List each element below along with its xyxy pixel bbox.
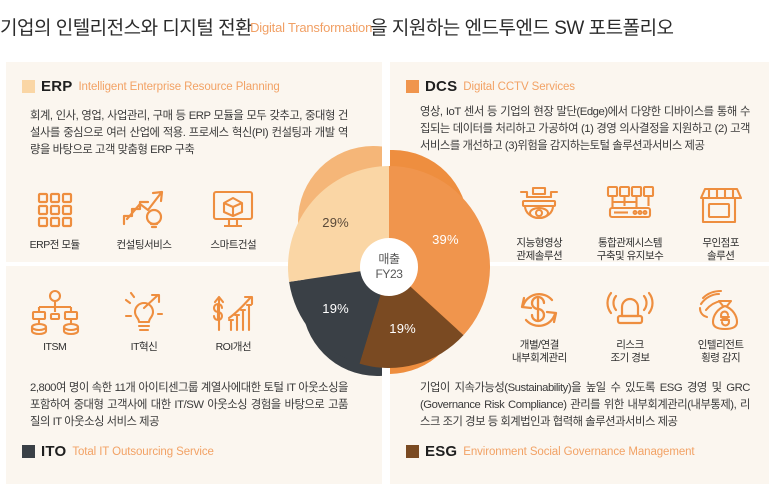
grid-modules-icon bbox=[29, 186, 81, 234]
ito-icon-cell-3[interactable]: ROI개선 bbox=[189, 288, 278, 354]
erp-icon-row: ERP전 모듈 컨설팅서비스 bbox=[10, 186, 278, 252]
ito-icon-cell-1[interactable]: ITSM bbox=[10, 288, 99, 354]
pie-label-esg: 19% bbox=[389, 321, 416, 336]
ito-code: ITO bbox=[41, 443, 66, 460]
erp-description: 회계, 인사, 영업, 사업관리, 구매 등 ERP 모듈을 모두 갖추고, 중… bbox=[30, 108, 348, 159]
network-servers-icon bbox=[29, 288, 81, 336]
title-trail: 을 지원하는 엔드투엔드 SW 포트폴리오 bbox=[370, 13, 673, 40]
dcs-icon-cell-1[interactable]: 지능형영상 관제솔루션 bbox=[494, 184, 585, 263]
monitor-building-icon bbox=[207, 186, 259, 234]
esg-icon-row: 개별/연결 내부회계관리 리스크 조기 경보 bbox=[494, 286, 766, 365]
slide-canvas: 기업의 인텔리전스와 디지털 전환 Digital Transformation… bbox=[0, 0, 775, 490]
esg-name: Environment Social Governance Management bbox=[463, 446, 694, 458]
dcs-code: DCS bbox=[425, 78, 457, 95]
title-lead: 기업의 인텔리전스와 디지털 전환 bbox=[0, 13, 252, 40]
esg-marker-square bbox=[406, 445, 419, 458]
roi-dollar-growth-icon bbox=[207, 288, 259, 336]
control-system-rack-icon bbox=[604, 184, 656, 232]
cctv-camera-icon bbox=[513, 184, 565, 232]
esg-icon-cell-2[interactable]: 리스크 조기 경보 bbox=[585, 286, 676, 365]
erp-name: Intelligent Enterprise Resource Planning bbox=[78, 81, 279, 93]
money-bag-grab-icon bbox=[695, 286, 747, 334]
dcs-icon-label-2: 통합관제시스템 구축및 유지보수 bbox=[597, 237, 664, 263]
dollar-cycle-icon bbox=[513, 286, 565, 334]
ito-icon-label-1: ITSM bbox=[43, 341, 66, 354]
pie-label-dcs: 39% bbox=[432, 232, 459, 247]
dcs-icon-cell-2[interactable]: 통합관제시스템 구축및 유지보수 bbox=[585, 184, 676, 263]
title-english: Digital Transformation bbox=[250, 20, 372, 35]
ito-icon-row: ITSM IT혁신 bbox=[10, 288, 278, 354]
esg-icon-label-3: 인텔리전트 횡령 감지 bbox=[698, 339, 744, 365]
dcs-icon-cell-3[interactable]: 무인점포 솔루션 bbox=[675, 184, 766, 263]
pie-label-erp: 29% bbox=[322, 215, 349, 230]
ito-icon-cell-2[interactable]: IT혁신 bbox=[99, 288, 188, 354]
lightbulb-arrow-icon bbox=[118, 288, 170, 336]
pie-center-hub: 매출 FY23 bbox=[360, 238, 418, 296]
erp-icon-cell-2[interactable]: 컨설팅서비스 bbox=[99, 186, 188, 252]
pie-label-ito: 19% bbox=[322, 301, 349, 316]
esg-icon-cell-1[interactable]: 개별/연결 내부회계관리 bbox=[494, 286, 585, 365]
pie-center-line1: 매출 bbox=[378, 252, 399, 267]
erp-marker-square bbox=[22, 80, 35, 93]
section-header-erp: ERP Intelligent Enterprise Resource Plan… bbox=[22, 78, 280, 95]
esg-code: ESG bbox=[425, 443, 457, 460]
esg-icon-cell-3[interactable]: 인텔리전트 횡령 감지 bbox=[675, 286, 766, 365]
erp-icon-label-2: 컨설팅서비스 bbox=[117, 239, 172, 252]
dcs-marker-square bbox=[406, 80, 419, 93]
dcs-icon-label-1: 지능형영상 관제솔루션 bbox=[516, 237, 562, 263]
erp-icon-label-1: ERP전 모듈 bbox=[30, 239, 80, 252]
erp-icon-cell-3[interactable]: 스마트건설 bbox=[189, 186, 278, 252]
pie-center-line2: FY23 bbox=[375, 267, 402, 282]
unmanned-store-icon bbox=[695, 184, 747, 232]
growth-chart-lightbulb-icon bbox=[118, 186, 170, 234]
dcs-name: Digital CCTV Services bbox=[463, 81, 575, 93]
section-header-ito: ITO Total IT Outsourcing Service bbox=[22, 443, 214, 460]
esg-icon-label-1: 개별/연결 내부회계관리 bbox=[512, 339, 567, 365]
ito-marker-square bbox=[22, 445, 35, 458]
erp-icon-cell-1[interactable]: ERP전 모듈 bbox=[10, 186, 99, 252]
alarm-siren-icon bbox=[604, 286, 656, 334]
dcs-icon-label-3: 무인점포 솔루션 bbox=[702, 237, 739, 263]
section-header-esg: ESG Environment Social Governance Manage… bbox=[406, 443, 695, 460]
ito-icon-label-3: ROI개선 bbox=[216, 341, 252, 354]
erp-code: ERP bbox=[41, 78, 72, 95]
section-header-dcs: DCS Digital CCTV Services bbox=[406, 78, 575, 95]
dcs-description: 영상, IoT 센서 등 기업의 현장 말단(Edge)에서 다양한 디바이스를… bbox=[420, 104, 750, 155]
esg-description: 기업이 지속가능성(Sustainability)을 높일 수 있도록 ESG … bbox=[420, 380, 750, 431]
ito-description: 2,800여 명이 속한 11개 아이티센그룹 계열사에대한 토털 IT 아웃소… bbox=[30, 380, 348, 431]
ito-name: Total IT Outsourcing Service bbox=[72, 446, 213, 458]
revenue-pie-chart: 39% 19% 19% 29% 매출 FY23 bbox=[288, 166, 490, 368]
erp-icon-label-3: 스마트건설 bbox=[210, 239, 256, 252]
page-title: 기업의 인텔리전스와 디지털 전환 Digital Transformation… bbox=[0, 6, 775, 46]
esg-icon-label-2: 리스크 조기 경보 bbox=[610, 339, 649, 365]
dcs-icon-row: 지능형영상 관제솔루션 통합관제시스템 구축및 유지보수 bbox=[494, 184, 766, 263]
ito-icon-label-2: IT혁신 bbox=[131, 341, 158, 354]
